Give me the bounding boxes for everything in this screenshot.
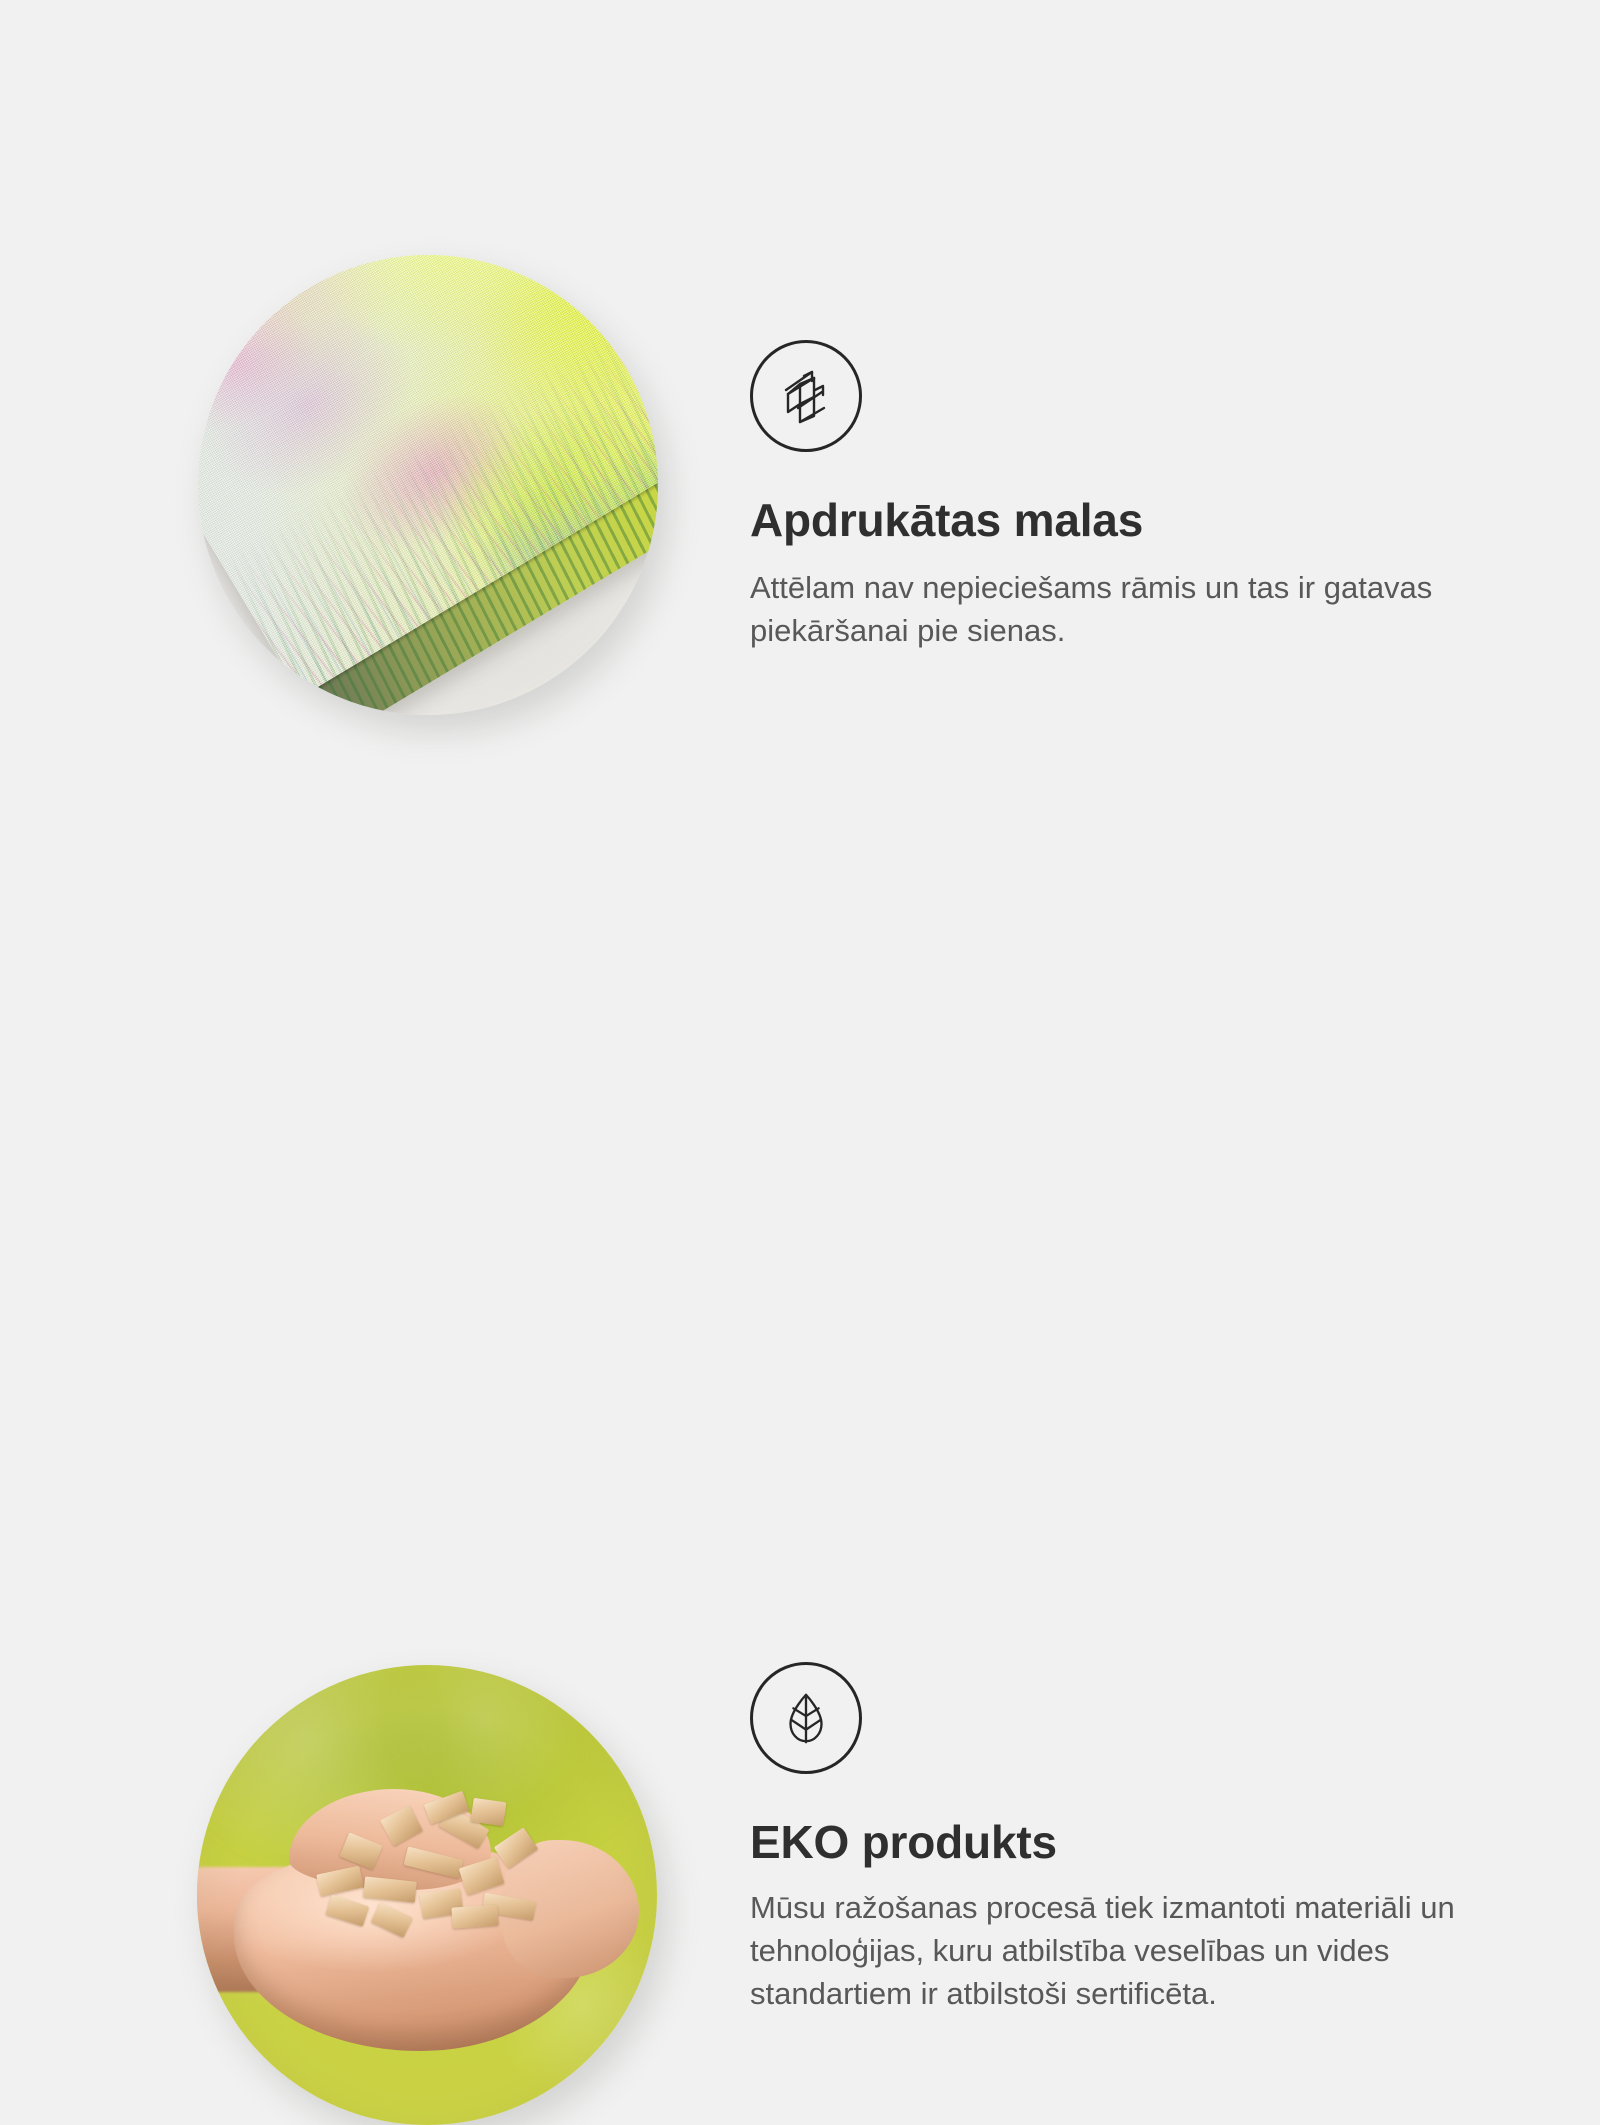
photo-vignette xyxy=(197,1665,657,2125)
feature-title: EKO produkts xyxy=(750,1817,1470,1869)
eco-photo-scene xyxy=(197,1665,657,2125)
leaf-glyph xyxy=(775,1687,837,1749)
feature-description: Attēlam nav nepieciešams rāmis un tas ir… xyxy=(750,566,1440,653)
canvas-print-corner-photo xyxy=(198,255,658,715)
hands-holding-wood-chips-photo xyxy=(197,1665,657,2125)
feature-printed-edges: Apdrukātas malas Attēlam nav nepieciešam… xyxy=(0,0,1600,800)
wrapped-canvas-edge-icon xyxy=(750,340,862,452)
feature-printed-edges-content: Apdrukātas malas Attēlam nav nepieciešam… xyxy=(750,340,1470,652)
canvas-photo-scene xyxy=(198,255,658,715)
feature-eco-product-content: EKO produkts Mūsu ražošanas procesā tiek… xyxy=(750,1662,1470,2016)
feature-description: Mūsu ražošanas procesā tiek izmantoti ma… xyxy=(750,1886,1465,2016)
wrapped-canvas-edge-glyph xyxy=(774,364,838,428)
feature-title: Apdrukātas malas xyxy=(750,495,1470,547)
feature-list-page: Apdrukātas malas Attēlam nav nepieciešam… xyxy=(0,0,1600,1600)
feature-eco-product: EKO produkts Mūsu ražošanas procesā tiek… xyxy=(0,800,1600,1600)
leaf-icon xyxy=(750,1662,862,1774)
